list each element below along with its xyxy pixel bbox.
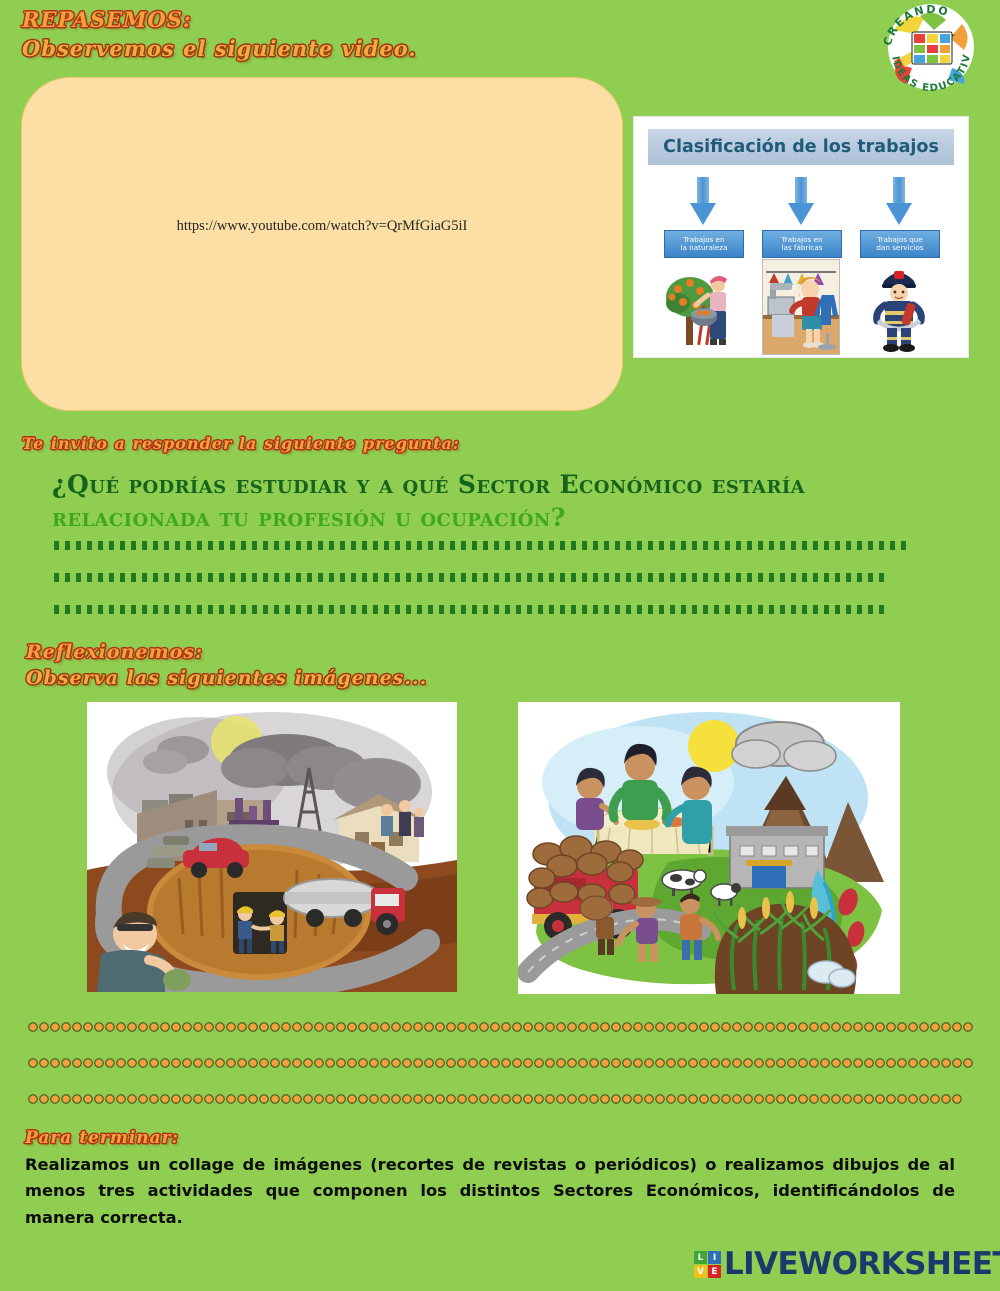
answer-line-2[interactable] (54, 573, 888, 582)
reflection-subtitle: Observa las siguientes imágenes... (26, 667, 427, 689)
reflection-answer-line-2[interactable] (28, 1057, 973, 1069)
category-label-line2: dan servicios (876, 244, 923, 252)
video-url-text[interactable]: https://www.youtube.com/watch?v=QrMfGiaG… (22, 218, 622, 235)
agricultural-rural-scene-image (518, 702, 900, 994)
reflection-answer-line-1[interactable] (28, 1021, 973, 1033)
down-arrow-icon-3 (886, 177, 912, 225)
tile-e: E (708, 1265, 721, 1278)
category-label-line2: la naturaleza (681, 244, 728, 252)
down-arrow-icon-2 (788, 177, 814, 225)
question-intro-heading: Te invito a responder la siguiente pregu… (22, 434, 460, 453)
seamstress-sewing-illustration (762, 259, 840, 355)
farmer-picking-fruit-illustration (664, 259, 742, 355)
tile-l: L (694, 1251, 707, 1264)
reflection-answer-line-3[interactable] (28, 1093, 963, 1105)
closing-instructions: Realizamos un collage de imágenes (recor… (25, 1152, 955, 1231)
down-arrow-icon-1 (690, 177, 716, 225)
firefighter-illustration (860, 259, 938, 355)
category-label-line2: las fábricas (782, 244, 823, 252)
classification-of-jobs-image: Clasificación de los trabajos Trabajos e… (634, 117, 968, 357)
question-text-line-2: relacionada tu profesión u ocupación? (52, 503, 566, 532)
category-box-nature: Trabajos en la naturaleza (664, 230, 744, 258)
answer-line-1[interactable] (54, 541, 911, 550)
creando-ideas-educativas-logo: CREANDO IDEAS EDUCATIVAS (876, 2, 986, 92)
reflection-title: Reflexionemos: (26, 641, 203, 663)
page-subtitle: Observemos el siguiente video. (22, 36, 417, 61)
answer-line-3[interactable] (54, 605, 888, 614)
tile-i: I (708, 1251, 721, 1264)
classification-title-bar: Clasificación de los trabajos (648, 129, 954, 165)
liveworksheets-wordmark: LIVEWORKSHEETS (724, 1249, 1000, 1280)
liveworksheets-tiles: L I V E (694, 1251, 721, 1278)
closing-title: Para terminar: (25, 1128, 179, 1148)
classification-title: Clasificación de los trabajos (663, 137, 939, 157)
page-title: REPASEMOS: (22, 7, 192, 32)
question-text-line-1: ¿Qué podrías estudiar y a qué Sector Eco… (52, 470, 805, 499)
liveworksheets-logo[interactable]: L I V E LIVEWORKSHEETS (694, 1249, 1000, 1280)
video-embed-panel[interactable]: https://www.youtube.com/watch?v=QrMfGiaG… (22, 78, 622, 410)
industrial-mining-scene-image (87, 702, 457, 992)
category-box-factories: Trabajos en las fábricas (762, 230, 842, 258)
tile-v: V (694, 1265, 707, 1278)
category-box-services: Trabajos que dan servicios (860, 230, 940, 258)
